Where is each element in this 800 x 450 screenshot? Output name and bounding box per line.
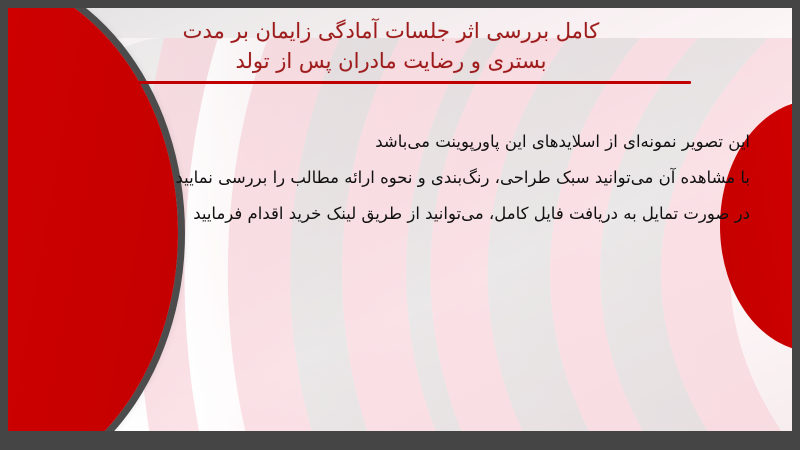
title-line-1: کامل بررسی اثر جلسات آمادگی زایمان بر مد… <box>108 16 674 46</box>
title-divider-rule <box>138 81 691 84</box>
body-line-1: این تصویر نمونه‌ای از اسلایدهای این پاور… <box>114 124 750 160</box>
body-line-3: در صورت تمایل به دریافت فایل کامل، می‌تو… <box>114 196 750 232</box>
slide-title: کامل بررسی اثر جلسات آمادگی زایمان بر مد… <box>108 16 674 76</box>
body-line-2: با مشاهده آن می‌توانید سبک طراحی، رنگ‌بن… <box>114 160 750 196</box>
slide-body-text: این تصویر نمونه‌ای از اسلایدهای این پاور… <box>114 124 750 232</box>
title-line-2: بستری و رضایت مادران پس از تولد <box>108 46 674 76</box>
presentation-slide: کامل بررسی اثر جلسات آمادگی زایمان بر مد… <box>0 0 800 450</box>
slide-content-panel: کامل بررسی اثر جلسات آمادگی زایمان بر مد… <box>8 8 792 431</box>
